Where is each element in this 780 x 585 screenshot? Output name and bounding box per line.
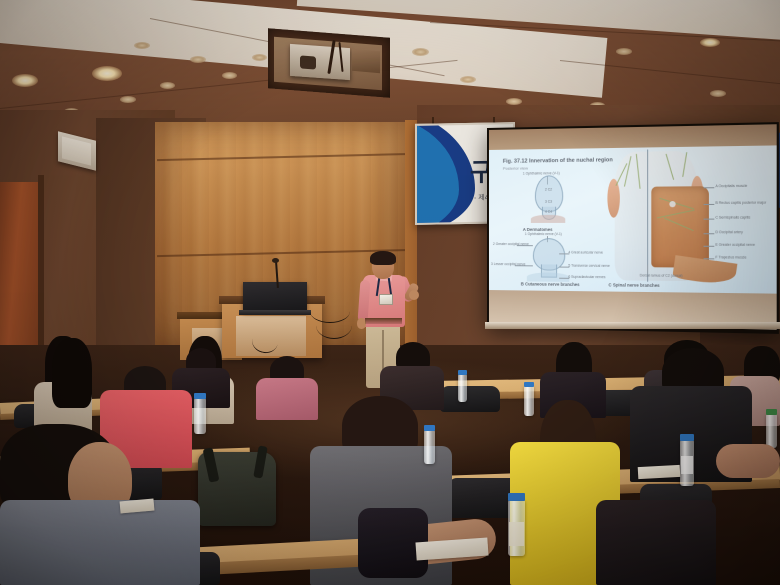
name-badge <box>379 294 393 305</box>
slide-label-c6: F Trapezius muscle <box>715 255 746 259</box>
slide-label-b4: 4 Great auricular nerve <box>568 250 603 254</box>
slide-label-b5: 5 Transverse cervical nerve <box>568 264 609 268</box>
downlight <box>616 48 632 55</box>
slide-label-b6: 6 Supraclavicular nerves <box>568 275 605 279</box>
leader-line <box>704 233 715 234</box>
chair[interactable] <box>440 386 500 412</box>
slide-label-c4: D Occipital artery <box>715 230 743 234</box>
projection-screen: Fig. 37.12 Innervation of the nuchal reg… <box>487 122 779 334</box>
downlight <box>190 56 206 63</box>
slide-label-c1: A Occipitalis muscle <box>715 184 747 188</box>
slide-label-c-bottom: Dorsal ramus of C2 (dorsal) <box>640 273 683 278</box>
ear-left <box>607 179 619 218</box>
bottle-cap <box>458 370 467 375</box>
slide-subtitle: Posterior view <box>503 165 528 170</box>
laptop-keyboard[interactable] <box>239 310 311 315</box>
bottle-cap <box>524 382 534 387</box>
paper-handout[interactable] <box>638 465 681 479</box>
probe-marker <box>669 201 675 207</box>
projected-slide: Fig. 37.12 Innervation of the nuchal reg… <box>489 145 777 293</box>
microphone-icon <box>272 258 279 263</box>
slide-label-c5: E Greater occipital nerve <box>715 243 755 247</box>
leader-line <box>704 219 715 220</box>
leader-line <box>559 267 569 268</box>
slide-label-a1: 1 Ophthalmic nerve (V-1) <box>523 171 560 175</box>
projector-lens-icon <box>300 55 316 69</box>
projector-mount <box>352 49 380 73</box>
downlight <box>12 74 38 87</box>
screen-bottom-lip <box>485 322 780 329</box>
downlight <box>120 96 136 103</box>
attendee-body <box>256 378 318 420</box>
slide-label-a3: 3 C3 <box>545 200 552 204</box>
bottle-cap <box>680 434 694 441</box>
slide-caption-c: C Spinal nerve branches <box>608 282 659 288</box>
laptop-screen[interactable] <box>243 282 307 312</box>
leader-line <box>704 246 715 247</box>
downlight <box>160 82 175 89</box>
downlight <box>134 42 150 49</box>
slide-label-c3: C Semispinalis capitis <box>715 215 750 219</box>
downlight <box>710 90 726 97</box>
downlight <box>700 38 720 47</box>
bottle-cap <box>766 409 777 415</box>
bottle-cap <box>194 393 206 399</box>
leader-line <box>647 265 648 273</box>
leader-line <box>704 258 715 259</box>
presenter-hand <box>409 290 419 300</box>
presenter-belt <box>365 318 402 324</box>
downlight <box>506 98 522 105</box>
leader-line <box>559 253 569 254</box>
slide-label-a2: 2 C2 <box>545 187 552 191</box>
slide-title: Fig. 37.12 Innervation of the nuchal reg… <box>503 157 613 165</box>
lecture-hall-photograph: 구조 - 제4회 | 2016 - Fig. 37.12 Innervation… <box>0 0 780 585</box>
water-bottle[interactable] <box>524 386 534 416</box>
attendee-arm <box>716 444 780 478</box>
water-bottle[interactable] <box>766 414 777 448</box>
downlight <box>92 66 122 81</box>
leader-line <box>517 245 533 246</box>
leader-line <box>704 187 715 188</box>
bottle-label <box>681 456 693 474</box>
door[interactable] <box>0 182 40 357</box>
downlight <box>222 72 237 79</box>
downlight <box>412 48 429 56</box>
leader-line <box>559 278 569 279</box>
cable <box>316 312 352 339</box>
attendee-body <box>596 500 716 585</box>
attendee-hair <box>52 338 92 408</box>
water-bottle[interactable] <box>424 430 435 464</box>
slide-caption-b: B Cutaneous nerve branches <box>521 281 580 287</box>
water-bottle[interactable] <box>458 374 467 402</box>
leader-line <box>704 204 715 205</box>
muscle-flap <box>672 255 737 287</box>
slide-label-a4: 4 C4 <box>545 210 552 214</box>
water-bottle[interactable] <box>194 398 206 434</box>
bottle-label <box>509 522 524 546</box>
leader-line <box>515 265 533 266</box>
downlight <box>252 54 267 61</box>
midline-reference <box>647 150 648 282</box>
presenter-hair <box>370 251 396 265</box>
bottle-cap <box>508 493 525 501</box>
door-frame <box>38 175 44 360</box>
slide-label-c2: B Rectus capitis posterior major <box>715 201 766 205</box>
bottle-cap <box>424 425 435 431</box>
downlight <box>460 76 476 83</box>
slide-label-b1: 1 Ophthalmic nerve (V-1) <box>525 232 562 236</box>
dermatome-shoulder <box>531 215 565 223</box>
attendee-gray-shirt <box>0 500 200 585</box>
